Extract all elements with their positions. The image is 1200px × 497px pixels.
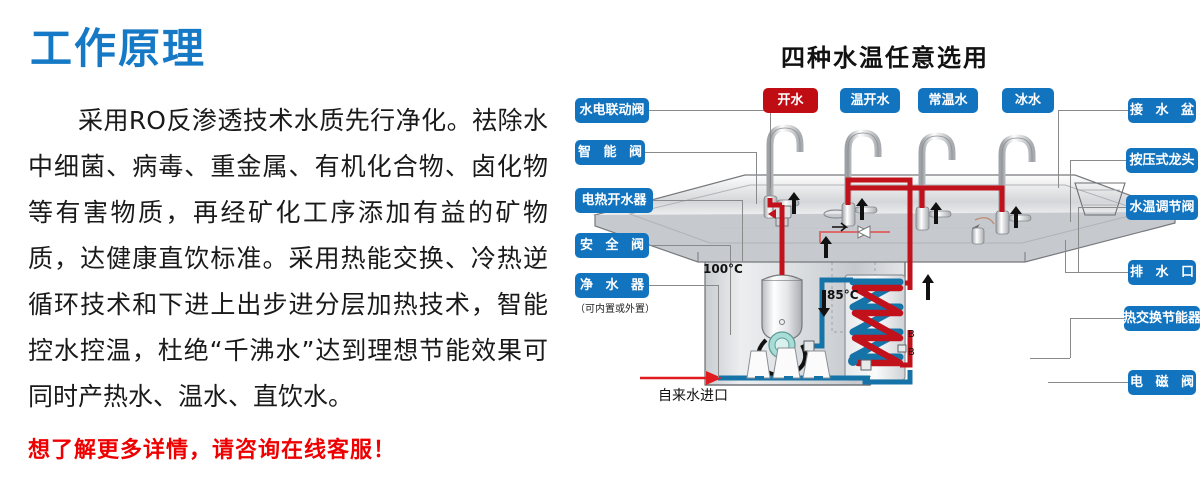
mode-badge-room-temperature-water[interactable]: 常温水 — [918, 88, 978, 113]
leader-line-right-1 — [1058, 110, 1128, 111]
mode-badge-boiling-water[interactable]: 开水 — [763, 88, 818, 113]
leader-line-right-5 — [1070, 318, 1128, 319]
leader-line-right-4 — [1065, 272, 1128, 273]
label-drain-outlet[interactable]: 排 水 口 — [1128, 260, 1196, 285]
label-heat-exchange-energy-saver[interactable]: 热交换节能器 — [1124, 306, 1200, 331]
page-title: 工作原理 — [30, 24, 206, 74]
leader-line-left-1 — [648, 110, 770, 111]
leader-line-right-3 — [1078, 207, 1128, 208]
label-solenoid-valve[interactable]: 电 磁 阀 — [1128, 370, 1196, 395]
label-safety-valve[interactable]: 安 全 阀 — [575, 233, 649, 258]
left-text-column: 工作原理 采用RO反渗透技术水质先行净化。祛除水中细菌、病毒、重金属、有机化合物… — [0, 0, 570, 497]
leader-line-left-5 — [648, 285, 718, 286]
leader-line-right-5v — [1070, 318, 1071, 358]
leader-line-left-5v — [718, 285, 719, 378]
label-drip-tray[interactable]: 接 水 盆 — [1128, 98, 1196, 123]
temperature-100c: 100°C — [703, 262, 743, 276]
leader-line-left-3 — [652, 200, 742, 201]
leader-line-right-3v — [1078, 207, 1079, 273]
mode-badge-warm-boiled-water[interactable]: 温开水 — [840, 88, 900, 113]
leader-line-right-2 — [1070, 160, 1128, 161]
leader-line-left-4 — [648, 245, 730, 246]
leader-line-left-3v — [742, 200, 743, 262]
leader-line-right-2v — [1070, 160, 1071, 222]
leader-line-left-4v — [730, 245, 731, 335]
label-water-purifier[interactable]: 净 水 器 — [575, 273, 649, 298]
customer-service-cta[interactable]: 想了解更多详情，请咨询在线客服！ — [28, 432, 396, 464]
machine-illustration: B B — [570, 0, 1200, 497]
label-smart-valve[interactable]: 智 能 阀 — [575, 140, 645, 165]
mode-badge-ice-water[interactable]: 冰水 — [1002, 88, 1054, 113]
work-principle-page: 工作原理 采用RO反渗透技术水质先行净化。祛除水中细菌、病毒、重金属、有机化合物… — [0, 0, 1200, 497]
leader-line-right-1v — [1058, 110, 1059, 188]
svg-text:B: B — [908, 347, 915, 358]
label-water-temperature-regulating-valve[interactable]: 水温调节阀 — [1126, 195, 1198, 220]
water-dispenser-diagram: 四种水温任意选用 — [570, 0, 1200, 497]
tap-water-inlet-label: 自来水进口 — [658, 385, 728, 405]
svg-text:B: B — [908, 329, 915, 340]
leader-line-left-1v — [770, 110, 771, 188]
label-water-power-linkage-valve[interactable]: 水电联动阀 — [575, 98, 649, 123]
leader-line-right-4v — [1065, 240, 1066, 272]
leader-line-left-2 — [644, 152, 756, 153]
description-paragraph: 采用RO反渗透技术水质先行净化。祛除水中细菌、病毒、重金属、有机化合物、卤化物等… — [28, 98, 548, 420]
temperature-85c: 85°C — [827, 288, 859, 302]
label-push-type-faucet[interactable]: 按压式龙头 — [1126, 148, 1198, 173]
leader-line-right-6 — [1048, 382, 1128, 383]
label-electric-water-boiler[interactable]: 电热开水器 — [575, 188, 653, 213]
leader-line-left-2v — [756, 152, 757, 204]
leader-line-right-5b — [1030, 358, 1070, 359]
water-purifier-note: （可内置或外置） — [575, 300, 655, 315]
